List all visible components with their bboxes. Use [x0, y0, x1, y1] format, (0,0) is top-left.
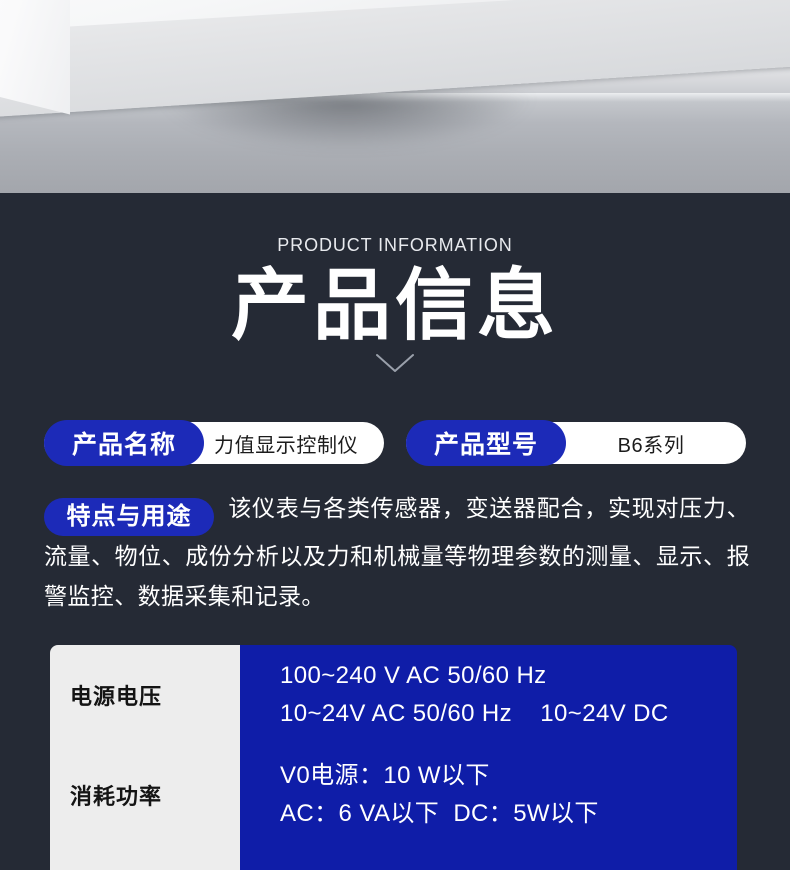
feature-badge: 特点与用途 — [44, 498, 214, 536]
product-info-pills: 产品名称 力值显示控制仪 产品型号 B6系列 — [44, 422, 746, 464]
section-header: PRODUCT INFORMATION 产品信息 — [0, 193, 790, 378]
spec-line: 100~240 V AC 50/60 Hz — [280, 662, 737, 690]
spec-key-row-3 — [50, 845, 240, 870]
pill-label-product-model: 产品型号 — [406, 420, 566, 466]
spec-key-power-voltage: 电源电压 — [50, 645, 240, 745]
product-photo — [0, 0, 790, 193]
spec-value-column: 100~240 V AC 50/60 Hz 10~24V AC 50/60 Hz… — [240, 645, 737, 870]
page-title: 产品信息 — [0, 260, 790, 350]
photo-shadow — [140, 95, 600, 193]
spec-value-power-voltage: 100~240 V AC 50/60 Hz 10~24V AC 50/60 Hz… — [240, 645, 737, 745]
pill-value-product-name: 力值显示控制仪 — [214, 429, 358, 458]
section-eyebrow: PRODUCT INFORMATION — [0, 235, 790, 256]
pill-product-model: 产品型号 B6系列 — [406, 422, 746, 464]
chevron-container — [0, 352, 790, 378]
feature-description: 特点与用途该仪表与各类传感器，变送器配合，实现对压力、流量、物位、成份分析以及力… — [44, 488, 750, 616]
spec-line: 10~24V AC 50/60 Hz 10~24V DC — [280, 700, 737, 728]
pill-label-product-name: 产品名称 — [44, 420, 204, 466]
spec-line: AC：6 VA以下 DC：5W以下 — [280, 800, 737, 828]
spec-value-power-consumption: V0电源：10 W以下 AC：6 VA以下 DC：5W以下 — [240, 745, 737, 845]
specification-table: 电源电压 消耗功率 100~240 V AC 50/60 Hz 10~24V A… — [50, 645, 737, 870]
spec-line: V0电源：10 W以下 — [280, 762, 737, 790]
chevron-down-icon — [374, 352, 416, 374]
spec-value-row-3 — [240, 845, 737, 870]
spec-key-column: 电源电压 消耗功率 — [50, 645, 240, 870]
product-body-left — [0, 0, 70, 114]
spec-key-power-consumption: 消耗功率 — [50, 745, 240, 845]
product-information-page: PRODUCT INFORMATION 产品信息 产品名称 力值显示控制仪 产品… — [0, 0, 790, 870]
pill-product-name: 产品名称 力值显示控制仪 — [44, 422, 384, 464]
